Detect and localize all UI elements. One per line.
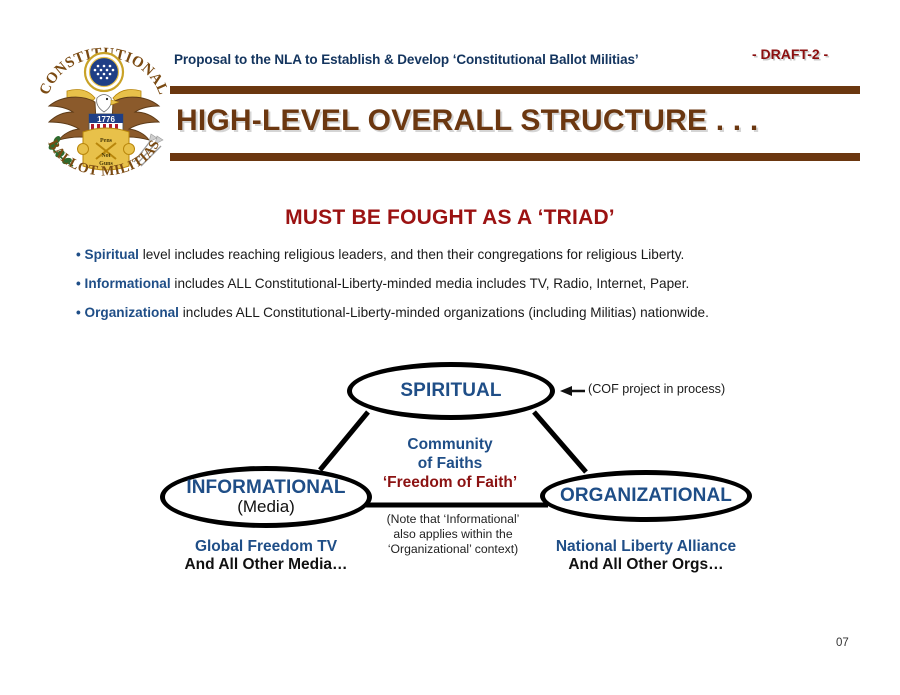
note-line-2: also applies within the <box>360 527 546 542</box>
seal-shield-year: 1776 <box>97 115 115 124</box>
label-right-secondary: And All Other Orgs… <box>540 556 752 574</box>
node-organizational-label: ORGANIZATIONAL <box>560 486 732 506</box>
node-organizational[interactable]: ORGANIZATIONAL <box>540 470 752 522</box>
constitutional-ballot-militias-seal: CONSTITUTIONAL E PLURIBUS UNUM <box>33 36 175 194</box>
seal-scroll-pens: Pens <box>100 138 113 144</box>
bullet-keyword: Informational <box>85 276 171 291</box>
bullet-marker: • <box>76 305 81 320</box>
label-organizational-examples: National Liberty Alliance And All Other … <box>540 538 752 575</box>
slide-canvas: CONSTITUTIONAL E PLURIBUS UNUM <box>0 0 900 695</box>
node-spiritual[interactable]: SPIRITUAL <box>347 362 555 420</box>
note-line-3: ‘Organizational’ context) <box>360 542 546 557</box>
label-right-primary: National Liberty Alliance <box>540 538 752 556</box>
bullet-text: level includes reaching religious leader… <box>139 247 684 262</box>
bullet-marker: • <box>76 247 81 262</box>
node-informational-sublabel: (Media) <box>237 498 295 517</box>
informational-scope-note: (Note that ‘Informational’ also applies … <box>360 512 546 557</box>
node-informational-label: INFORMATIONAL <box>186 478 345 498</box>
node-spiritual-label: SPIRITUAL <box>400 381 501 401</box>
page-title: HIGH-LEVEL OVERALL STRUCTURE . . . <box>176 104 758 138</box>
triad-diagram: SPIRITUAL INFORMATIONAL (Media) ORGANIZA… <box>0 340 900 610</box>
arrow-left-icon <box>560 386 585 396</box>
page-number: 07 <box>836 637 849 649</box>
bullet-text: includes ALL Constitutional-Liberty-mind… <box>179 305 709 320</box>
center-annotation: Community of Faiths ‘Freedom of Faith’ <box>360 436 540 493</box>
bullet-marker: • <box>76 276 81 291</box>
label-left-secondary: And All Other Media… <box>160 556 372 574</box>
center-line-1: Community <box>360 436 540 455</box>
label-informational-examples: Global Freedom TV And All Other Media… <box>160 538 372 575</box>
center-line-3: ‘Freedom of Faith’ <box>360 474 540 493</box>
bullet-keyword: Organizational <box>85 305 179 320</box>
title-rule-bottom <box>170 153 860 161</box>
draft-status-badge: - DRAFT-2 - <box>752 46 828 62</box>
label-left-primary: Global Freedom TV <box>160 538 372 556</box>
bullet-item-spiritual: • Spiritual level includes reaching reli… <box>76 247 684 262</box>
node-informational[interactable]: INFORMATIONAL (Media) <box>160 466 372 528</box>
note-line-1: (Note that ‘Informational’ <box>360 512 546 527</box>
cof-project-annotation: (COF project in process) <box>588 382 725 396</box>
section-headline: MUST BE FOUGHT AS A ‘TRIAD’ <box>0 206 900 230</box>
header-subtitle: Proposal to the NLA to Establish & Devel… <box>174 52 639 67</box>
bullet-keyword: Spiritual <box>85 247 139 262</box>
bullet-text: includes ALL Constitutional-Liberty-mind… <box>171 276 690 291</box>
title-rule-top <box>170 86 860 94</box>
center-line-2: of Faiths <box>360 455 540 474</box>
seal-scroll-not: Not <box>101 153 110 159</box>
bullet-item-organizational: • Organizational includes ALL Constituti… <box>76 305 709 320</box>
edge-spiritual-organizational <box>534 412 586 472</box>
bullet-item-informational: • Informational includes ALL Constitutio… <box>76 276 689 291</box>
